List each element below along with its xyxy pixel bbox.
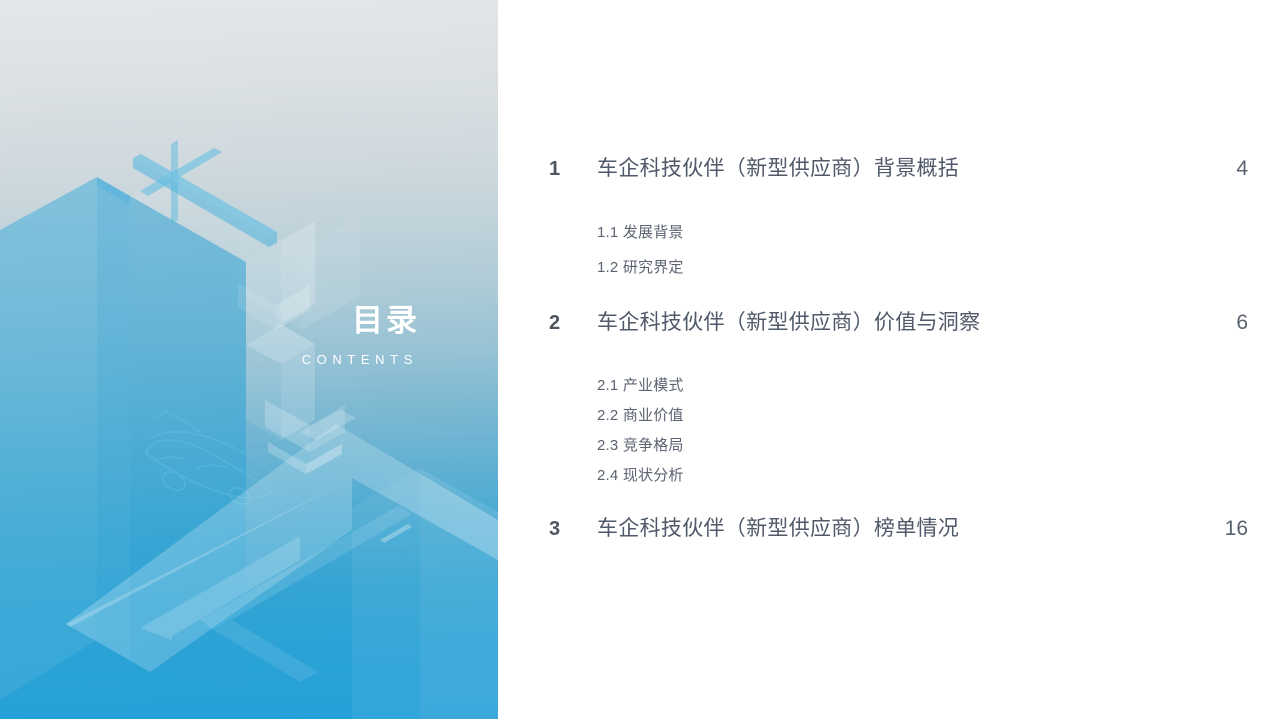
toc-subsection-item[interactable]: 2.2 商业价值 [549, 408, 1248, 423]
table-of-contents: 1 车企科技伙伴（新型供应商）背景概括 4 1.1 发展背景 1.2 研究界定 … [498, 0, 1279, 719]
toc-section-title: 车企科技伙伴（新型供应商）榜单情况 [597, 518, 1188, 539]
toc-sublist: 2.1 产业模式 2.2 商业价值 2.3 竞争格局 2.4 现状分析 [549, 378, 1248, 483]
toc-page-number: 16 [1188, 518, 1248, 539]
toc-section-number: 2 [549, 313, 597, 333]
isometric-building-and-chevron-graphic [0, 0, 498, 719]
toc-section: 3 车企科技伙伴（新型供应商）榜单情况 16 [549, 518, 1248, 539]
toc-subsection-item[interactable]: 1.2 研究界定 [549, 260, 1248, 275]
toc-list: 1 车企科技伙伴（新型供应商）背景概括 4 1.1 发展背景 1.2 研究界定 … [549, 158, 1248, 539]
toc-section-title: 车企科技伙伴（新型供应商）背景概括 [597, 158, 1188, 179]
toc-entry[interactable]: 2 车企科技伙伴（新型供应商）价值与洞察 6 [549, 312, 1248, 333]
toc-subsection-item[interactable]: 2.1 产业模式 [549, 378, 1248, 393]
toc-page-number: 6 [1188, 312, 1248, 333]
cover-panel: 目录 CONTENTS [0, 0, 498, 719]
toc-section-title: 车企科技伙伴（新型供应商）价值与洞察 [597, 312, 1188, 333]
toc-entry[interactable]: 1 车企科技伙伴（新型供应商）背景概括 4 [549, 158, 1248, 179]
page-title: 目录 [302, 305, 420, 338]
toc-sublist: 1.1 发展背景 1.2 研究界定 [549, 225, 1248, 275]
toc-section: 1 车企科技伙伴（新型供应商）背景概括 4 1.1 发展背景 1.2 研究界定 [549, 158, 1248, 275]
toc-subsection-item[interactable]: 1.1 发展背景 [549, 225, 1248, 240]
page-subtitle: CONTENTS [302, 352, 420, 367]
cover-text-block: 目录 CONTENTS [302, 305, 420, 367]
toc-section-number: 1 [549, 159, 597, 179]
toc-subsection-item[interactable]: 2.3 竞争格局 [549, 438, 1248, 453]
toc-section: 2 车企科技伙伴（新型供应商）价值与洞察 6 2.1 产业模式 2.2 商业价值… [549, 312, 1248, 483]
slide-root: 目录 CONTENTS 1 车企科技伙伴（新型供应商）背景概括 4 1.1 发展… [0, 0, 1279, 719]
toc-entry[interactable]: 3 车企科技伙伴（新型供应商）榜单情况 16 [549, 518, 1248, 539]
toc-page-number: 4 [1188, 158, 1248, 179]
toc-subsection-item[interactable]: 2.4 现状分析 [549, 468, 1248, 483]
toc-section-number: 3 [549, 519, 597, 539]
